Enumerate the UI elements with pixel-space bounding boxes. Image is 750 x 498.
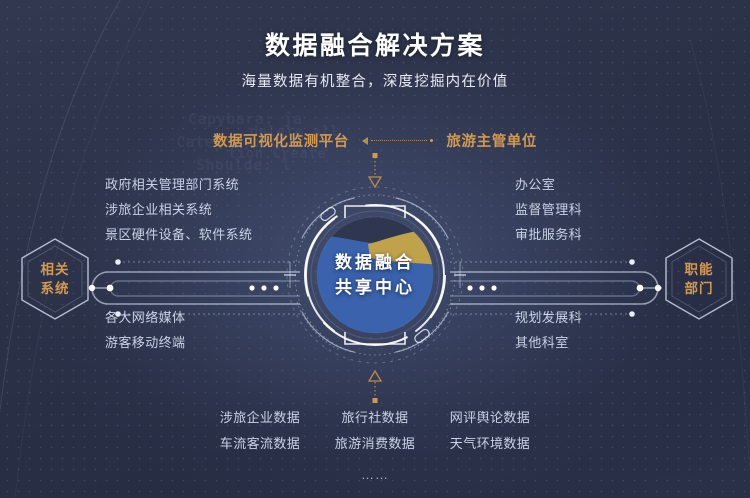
hexagon-right-label: 职能 部门 xyxy=(685,260,714,298)
list-item[interactable]: 涉旅企业相关系统 xyxy=(105,197,252,222)
right-upper-department-list: 办公室 监督管理科 审批服务科 xyxy=(515,172,582,247)
list-item[interactable]: 游客移动终端 xyxy=(105,330,185,355)
data-cell[interactable]: 车流客流数据 xyxy=(203,431,318,457)
hexagon-related-systems[interactable]: 相关 系统 xyxy=(18,236,92,322)
table-row: 车流客流数据 旅游消费数据 天气环境数据 xyxy=(203,431,548,457)
infographic-canvas: Capybara: ja Category: d Shoulde: l , de… xyxy=(0,0,750,498)
hexagon-functional-departments[interactable]: 职能 部门 xyxy=(662,236,736,322)
data-cell[interactable]: 天气环境数据 xyxy=(433,431,548,457)
bottom-data-grid: 涉旅企业数据 旅行社数据 网评舆论数据 车流客流数据 旅游消费数据 天气环境数据… xyxy=(0,405,750,482)
data-cell[interactable]: 旅行社数据 xyxy=(318,405,433,431)
right-lower-department-list: 规划发展科 其他科室 xyxy=(515,305,582,355)
list-item[interactable]: 监督管理科 xyxy=(515,197,582,222)
data-fusion-core-ring: 数据融合 共享中心 xyxy=(262,162,488,388)
list-item[interactable]: 政府相关管理部门系统 xyxy=(105,172,252,197)
hexagon-right-line1: 职能 xyxy=(685,260,714,279)
hexagon-left-label: 相关 系统 xyxy=(41,260,70,298)
hexagon-left-line2: 系统 xyxy=(41,279,70,298)
ellipsis-indicator: …… xyxy=(361,467,389,482)
list-item[interactable]: 审批服务科 xyxy=(515,222,582,247)
list-item[interactable]: 规划发展科 xyxy=(515,305,582,330)
list-item[interactable]: 办公室 xyxy=(515,172,582,197)
hexagon-left-line1: 相关 xyxy=(41,260,70,279)
data-cell[interactable]: 网评舆论数据 xyxy=(433,405,548,431)
left-upper-system-list: 政府相关管理部门系统 涉旅企业相关系统 景区硬件设备、软件系统 xyxy=(105,172,252,247)
list-item[interactable]: 各大网络媒体 xyxy=(105,305,185,330)
table-row: 涉旅企业数据 旅行社数据 网评舆论数据 xyxy=(203,405,548,431)
data-cell[interactable]: 涉旅企业数据 xyxy=(203,405,318,431)
hexagon-right-line2: 部门 xyxy=(685,279,714,298)
left-lower-system-list: 各大网络媒体 游客移动终端 xyxy=(105,305,185,355)
list-item[interactable]: 景区硬件设备、软件系统 xyxy=(105,222,252,247)
list-item[interactable]: 其他科室 xyxy=(515,330,582,355)
data-cell[interactable]: 旅游消费数据 xyxy=(318,431,433,457)
